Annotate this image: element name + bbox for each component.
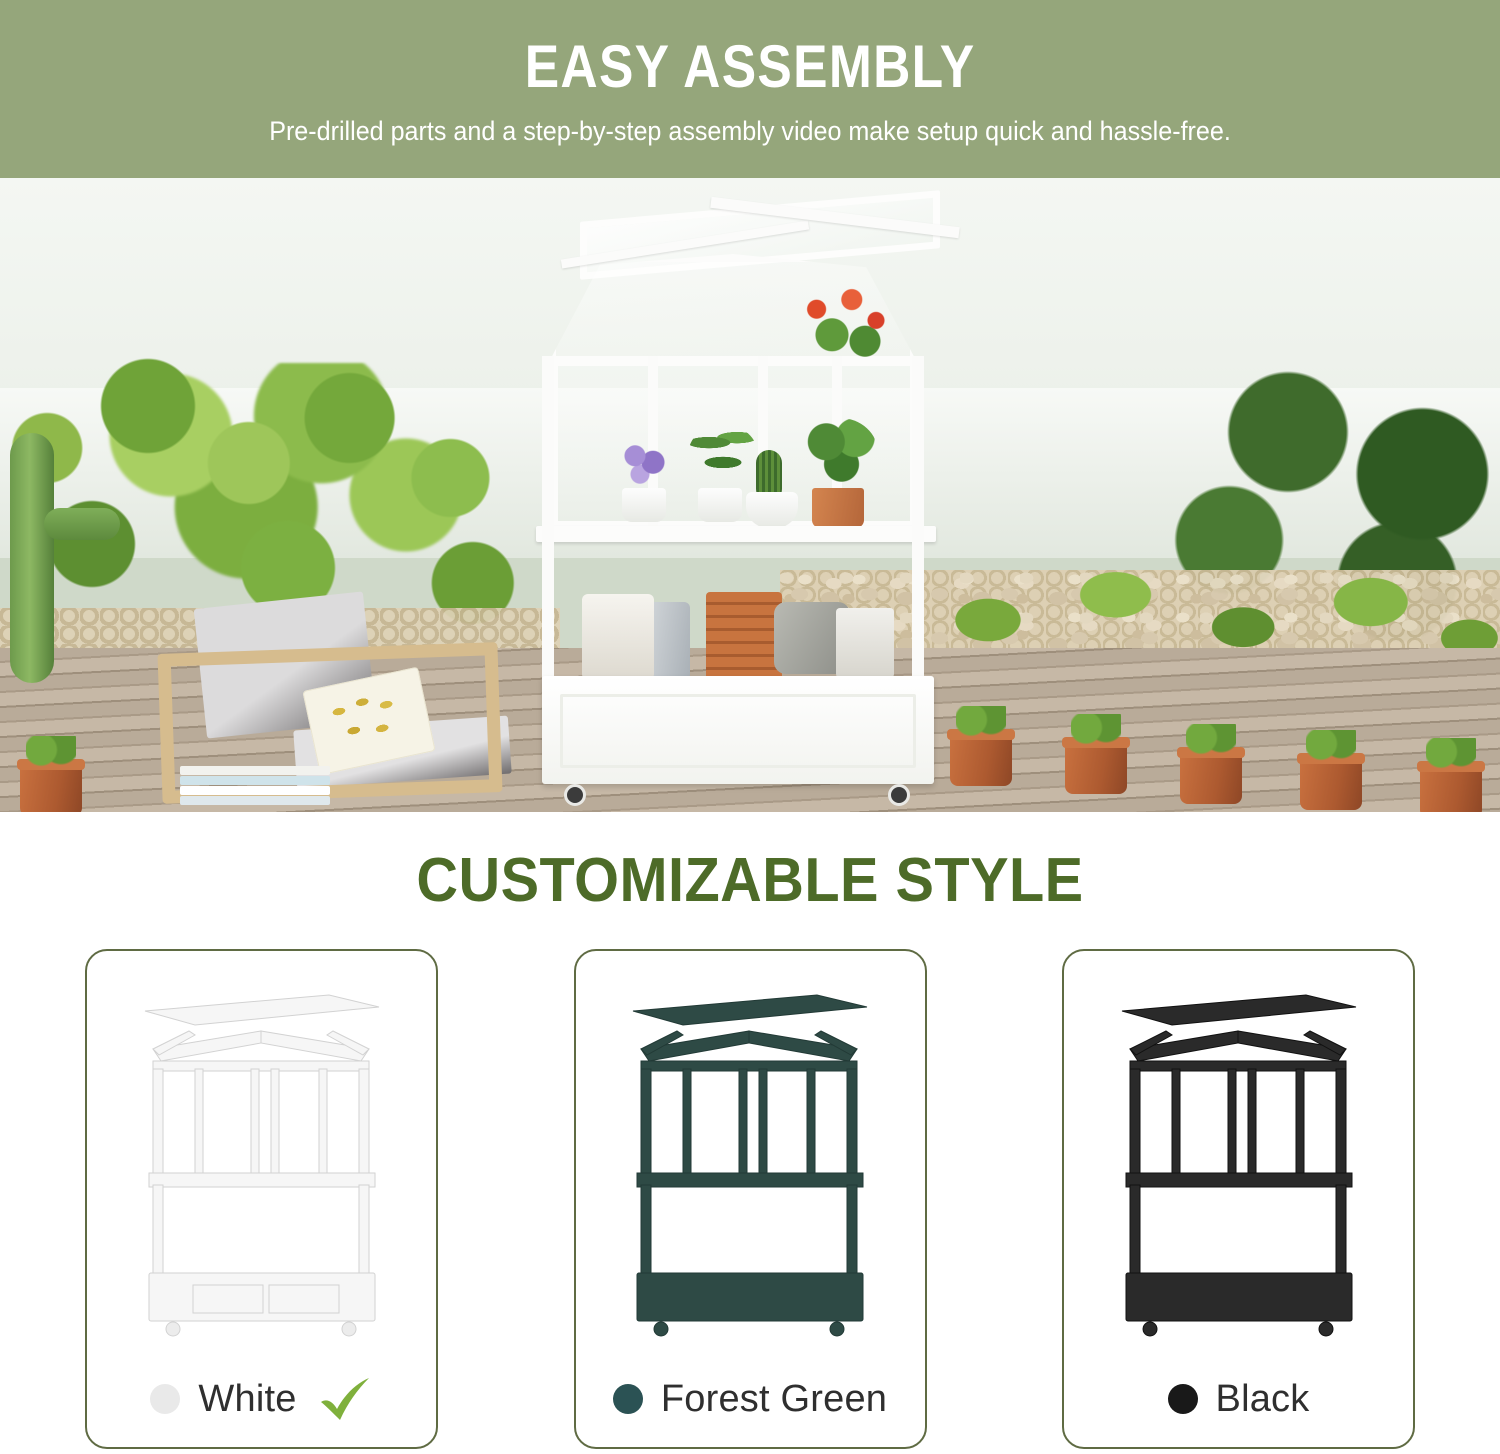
gh-post-right [359,1069,369,1177]
terracotta-pot [950,734,1012,786]
lounge-chair [160,578,520,808]
cactus-plant [10,433,54,683]
color-swatch-forest-green [613,1384,643,1414]
gh-post-left [153,1069,163,1177]
color-option-cards: White [0,949,1500,1449]
stacked-books [180,766,330,810]
cart-display-shelf [536,526,936,542]
product-image-forest-green [576,951,925,1351]
gh-post-left [641,1069,651,1177]
gh-leg-left [1130,1185,1140,1279]
stacked-terracotta-pots [706,592,782,680]
color-swatch-white [150,1384,180,1414]
gh-middle-shelf [149,1173,375,1187]
color-label-forest-green: Forest Green [661,1378,887,1421]
gh-post-right [847,1069,857,1177]
greenhouse-illustration-black [1110,973,1368,1341]
lifestyle-photo [0,178,1500,812]
terracotta-pot [1180,752,1242,804]
gh-planter-box [1126,1273,1352,1321]
gh-top-rail [641,1061,857,1071]
gh-caster-left [166,1322,180,1336]
card-label-row-black: Black [1064,1351,1413,1447]
gh-caster-left [654,1322,668,1336]
gh-mullion-3 [759,1069,767,1177]
banner-title: EASY ASSEMBLY [525,37,976,97]
card-label-row-forest-green: Forest Green [576,1351,925,1447]
red-flower-plant [788,282,898,362]
gh-mullion-2 [739,1069,747,1177]
gh-mullion-2 [1228,1069,1236,1177]
gh-outline [633,995,867,1336]
easy-assembly-banner: EASY ASSEMBLY Pre-drilled parts and a st… [0,0,1500,178]
gh-post-right [1336,1069,1346,1177]
selected-check-icon [315,1376,373,1422]
color-swatch-black [1168,1384,1198,1414]
book [180,766,330,775]
gh-mullion-1 [1172,1069,1180,1177]
gh-mullion-4 [807,1069,815,1177]
cart-support-post [912,356,924,686]
white-planter-pot [698,488,742,522]
gh-mullion-1 [683,1069,691,1177]
gh-middle-shelf [1126,1173,1352,1187]
gh-planter-panel-2 [269,1285,339,1313]
gh-caster-right [342,1322,356,1336]
terracotta-pot [1300,758,1362,810]
cart-caster-wheel [888,784,910,806]
gh-caster-right [830,1322,844,1336]
gh-post-left [1130,1069,1140,1177]
gh-mullion-2 [251,1069,259,1177]
greenhouse-illustration-forest-green [621,973,879,1341]
terracotta-pot [1420,766,1482,812]
purple-orchid-plant [620,442,670,488]
gh-mullion-3 [1248,1069,1256,1177]
gh-leg-left [641,1185,651,1279]
card-label-row-white: White [87,1351,436,1447]
terracotta-pot [1065,742,1127,794]
product-image-black [1064,951,1413,1351]
gh-mullion-3 [271,1069,279,1177]
book [180,796,330,805]
greenhouse-cart-product [520,196,950,796]
white-planter-pot [622,488,666,522]
greenhouse-illustration-white [133,973,391,1341]
gh-caster-right [1319,1322,1333,1336]
color-option-card-black[interactable]: Black [1062,949,1415,1449]
storage-bucket [582,594,654,680]
gh-top-rail [153,1061,369,1071]
gh-mullion-4 [1296,1069,1304,1177]
gh-roof-lid [633,995,867,1025]
gh-middle-shelf [637,1173,863,1187]
gh-leg-right [847,1185,857,1279]
gh-leg-left [153,1185,163,1279]
terracotta-planter-pot [812,488,864,528]
section-title: CUSTOMIZABLE STYLE [53,812,1448,912]
banner-subtitle: Pre-drilled parts and a step-by-step ass… [269,117,1231,147]
gh-mullion-4 [319,1069,327,1177]
cactus-arm [44,508,120,540]
gh-caster-left [1143,1322,1157,1336]
lemon-tree-plant [802,418,878,488]
greenhouse-svg [621,973,879,1341]
gh-roof-lid [145,995,379,1025]
greenhouse-svg [133,973,391,1341]
greenhouse-svg [1110,973,1368,1341]
gh-outline [1122,995,1356,1336]
terracotta-pot [20,764,82,812]
palm-plant [688,424,758,486]
book [180,786,330,795]
book [180,776,330,785]
cart-caster-wheel [564,784,586,806]
cart-planter-box [542,676,934,784]
gh-mullion-1 [195,1069,203,1177]
fabric-grow-bag [836,608,894,678]
gh-roof-lid [1122,995,1356,1025]
cart-support-post [542,356,554,686]
gh-leg-right [359,1185,369,1279]
color-option-card-forest-green[interactable]: Forest Green [574,949,927,1449]
color-label-white: White [198,1378,296,1421]
customizable-style-section: CUSTOMIZABLE STYLE [0,812,1500,1449]
gh-planter-panel-1 [193,1285,263,1313]
color-option-card-white[interactable]: White [85,949,438,1449]
product-image-white [87,951,436,1351]
color-label-black: Black [1216,1378,1310,1421]
gh-planter-box [637,1273,863,1321]
white-planter-pot [746,492,798,528]
gh-outline [145,995,379,1336]
gh-leg-right [1336,1185,1346,1279]
gh-top-rail [1130,1061,1346,1071]
